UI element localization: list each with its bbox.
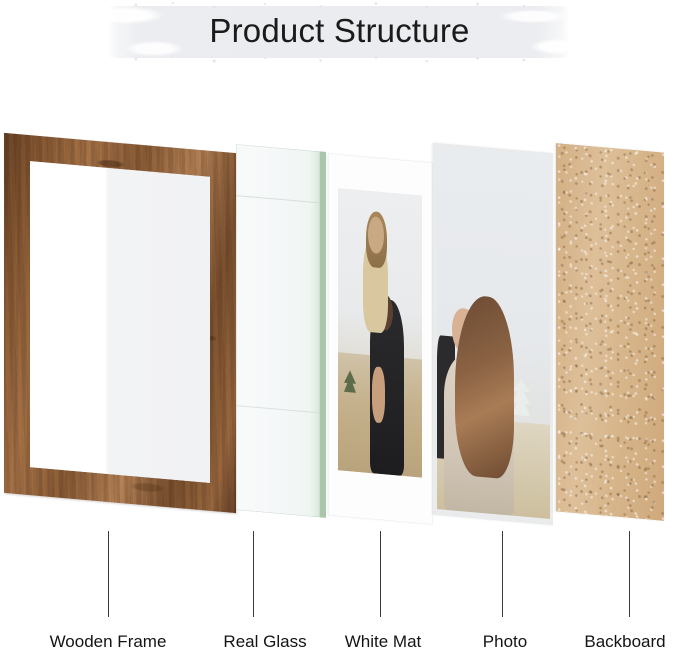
frame-opening [30,161,210,483]
layer-real-glass [236,144,326,518]
label-real-glass: Real Glass [223,632,306,652]
label-wooden-frame: Wooden Frame [50,632,167,652]
mat-window [338,188,422,477]
leader-line-white-mat [380,531,381,617]
frame-opening-inner [30,161,210,483]
label-backboard: Backboard [584,632,665,652]
product-structure-infographic: Product Structure [0,0,679,654]
photo-woman-hair [455,293,514,479]
leader-line-wooden-frame [108,531,109,617]
leader-line-real-glass [253,531,254,617]
label-photo: Photo [483,632,527,652]
label-white-mat: White Mat [345,632,422,652]
exploded-view-stage [0,0,679,654]
mat-photo-arm [372,366,385,424]
leader-line-backboard [629,531,630,617]
layer-white-mat [328,153,433,524]
leader-line-photo [502,531,503,617]
layer-backboard [556,143,664,520]
layer-wooden-frame [4,133,236,513]
photo-image [437,147,550,519]
mat-photo-tree [341,318,358,393]
layer-photo [433,143,553,525]
